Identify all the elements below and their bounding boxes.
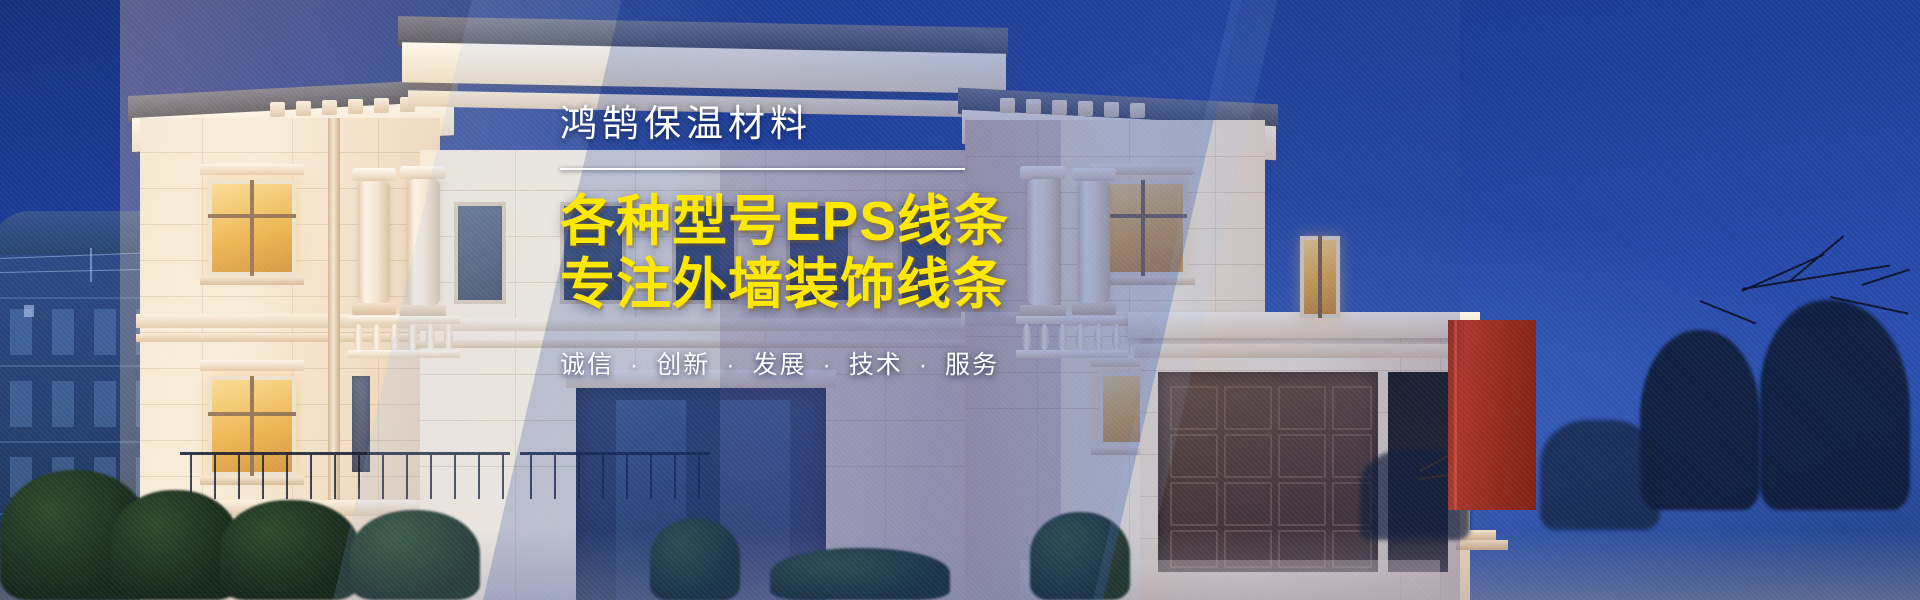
tagline-separator: · [822, 351, 832, 379]
tagline-item: 诚信 [560, 351, 614, 379]
headline-line-1: 各种型号EPS线条 [560, 190, 1030, 254]
tagline-item: 服务 [945, 351, 999, 379]
overhead-wire [90, 248, 92, 282]
banner-canvas: 鸿鹄保温材料 各种型号EPS线条 专注外墙装饰线条 诚信 · 创新 · 发展 ·… [0, 0, 1920, 600]
tree-silhouette [1540, 420, 1660, 530]
tagline-item: 技术 [849, 351, 903, 379]
tree-silhouette [1760, 300, 1910, 510]
red-container [1448, 320, 1536, 510]
tagline: 诚信 · 创新 · 发展 · 技术 · 服务 [560, 345, 1030, 381]
banner-text-block: 鸿鹄保温材料 各种型号EPS线条 专注外墙装饰线条 诚信 · 创新 · 发展 ·… [560, 104, 1030, 381]
tagline-separator: · [630, 351, 640, 379]
headline-line-2: 专注外墙装饰线条 [560, 253, 1030, 317]
tagline-item: 发展 [753, 351, 807, 379]
tagline-separator: · [919, 351, 929, 379]
brand-name: 鸿鹄保温材料 [560, 104, 1030, 145]
tagline-separator: · [726, 351, 736, 379]
tagline-item: 创新 [656, 351, 710, 379]
divider-rule [560, 168, 965, 170]
